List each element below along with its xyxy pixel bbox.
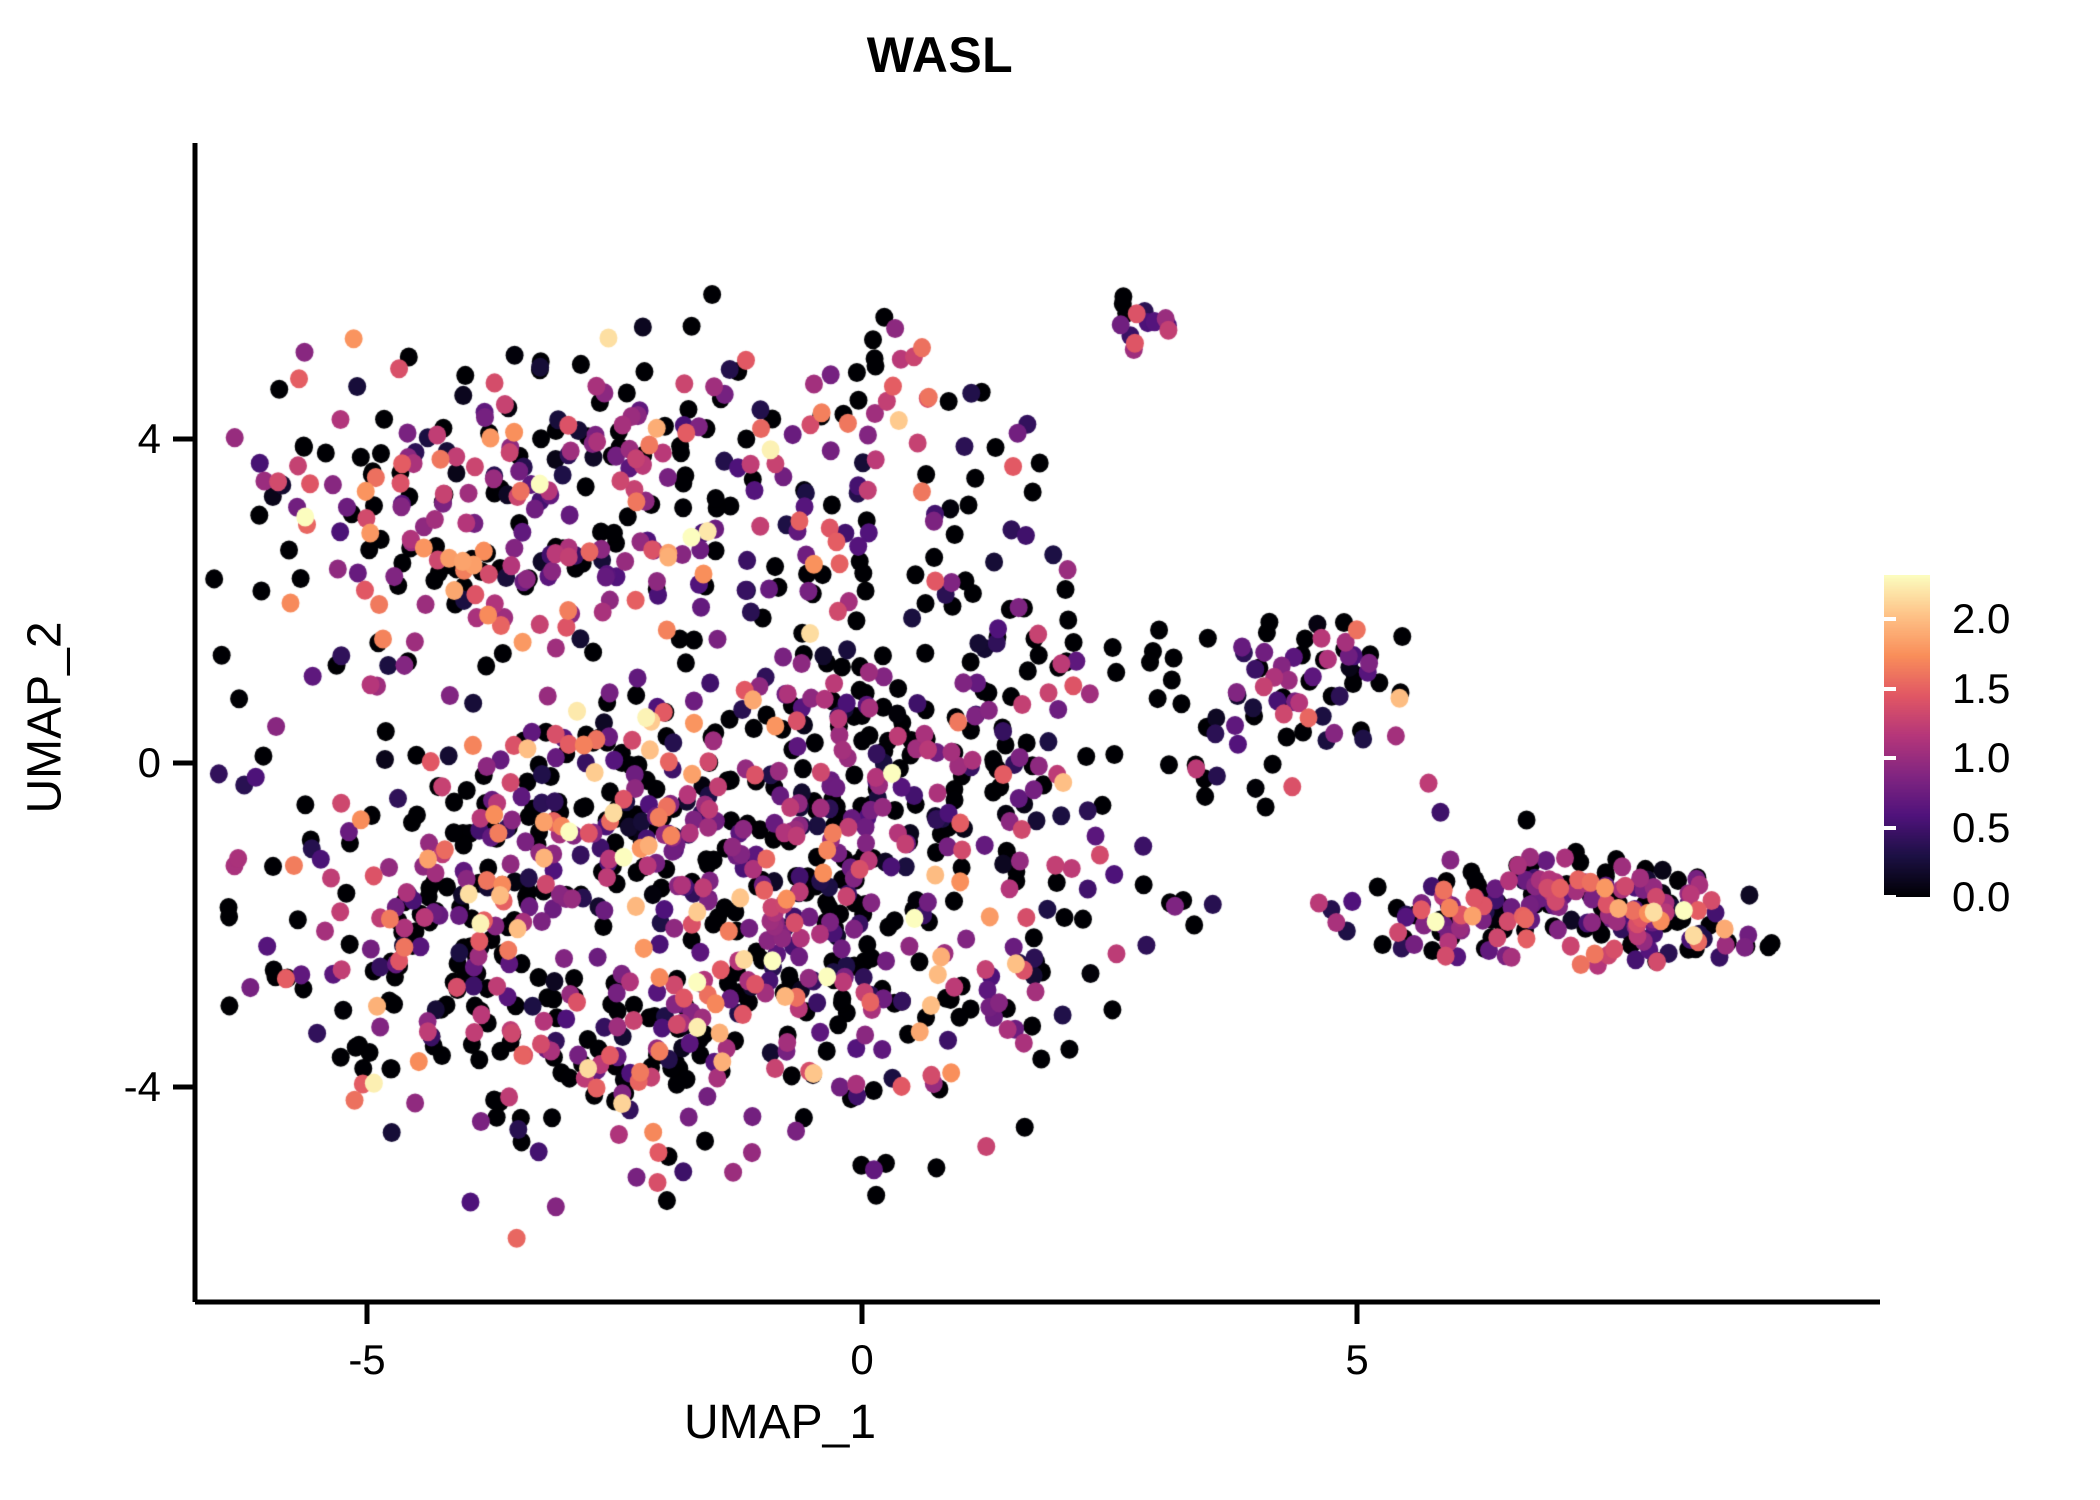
colorbar-tick-mark [2072,687,2084,691]
colorbar-tick-mark [1884,756,1896,760]
colorbar-tick-label: 1.0 [1952,734,2010,782]
colorbar-tick-label: 0.5 [1952,804,2010,852]
colorbar-gradient [1884,575,1930,897]
x-tick-label: 5 [1345,1336,1368,1384]
colorbar-tick-mark [2072,756,2084,760]
colorbar-tick-mark [1884,617,1896,621]
colorbar-tick-mark [1884,687,1896,691]
colorbar-tick-mark [2072,617,2084,621]
colorbar-tick-mark [2072,826,2084,830]
colorbar-tick-mark [1884,895,1896,899]
x-axis-title: UMAP_1 [195,1395,1365,1450]
y-tick-label: -4 [124,1063,161,1111]
x-tick-label: 0 [850,1336,873,1384]
colorbar-tick-label: 0.0 [1952,873,2010,921]
colorbar-tick-label: 2.0 [1952,595,2010,643]
y-axis-title: UMAP_2 [18,488,73,948]
colorbar-tick-mark [2072,895,2084,899]
x-tick-label: -5 [348,1336,385,1384]
y-tick-label: 4 [138,415,161,463]
scatter-plot-canvas [0,0,2100,1500]
umap-feature-plot: WASL -50540-4 UMAP_1 UMAP_2 0.00.51.01.5… [0,0,2100,1500]
colorbar-tick-label: 1.5 [1952,665,2010,713]
y-tick-label: 0 [138,739,161,787]
color-legend: 0.00.51.01.52.0 [1884,575,2084,897]
colorbar-tick-mark [1884,826,1896,830]
